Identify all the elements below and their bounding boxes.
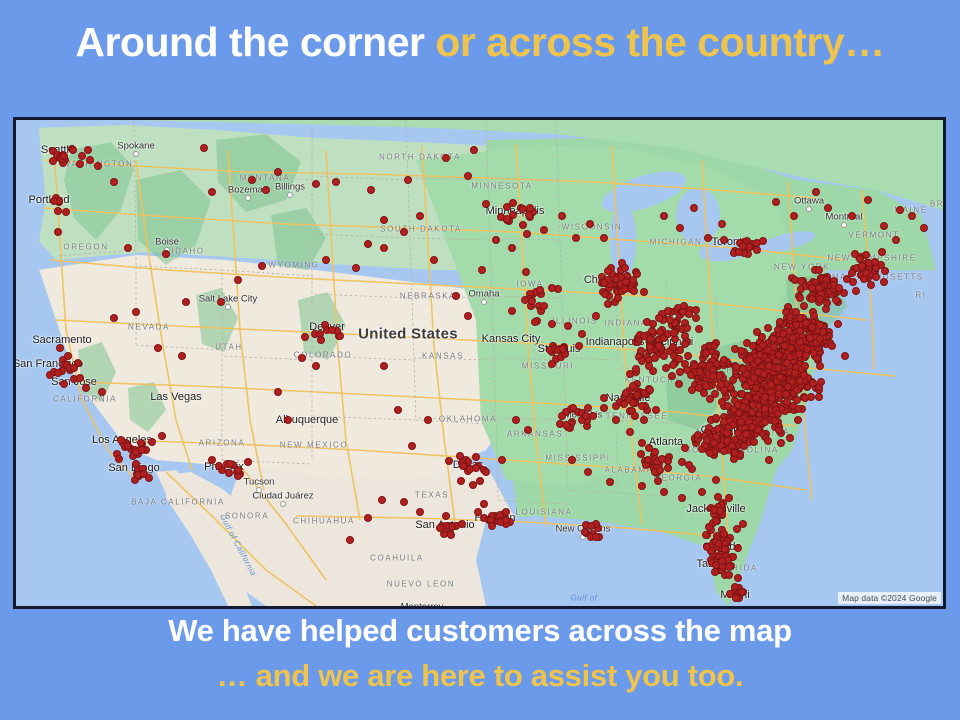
- customer-pin[interactable]: [734, 544, 742, 552]
- customer-pin[interactable]: [784, 383, 792, 391]
- customer-pin[interactable]: [800, 302, 808, 310]
- customer-pin[interactable]: [54, 207, 62, 215]
- customer-pin[interactable]: [815, 266, 823, 274]
- customer-pin[interactable]: [154, 344, 162, 352]
- customer-pin[interactable]: [789, 402, 797, 410]
- customer-pin[interactable]: [867, 281, 875, 289]
- customer-pin[interactable]: [739, 242, 747, 250]
- customer-pin[interactable]: [685, 461, 693, 469]
- customer-pin[interactable]: [880, 278, 888, 286]
- customer-pin[interactable]: [704, 234, 712, 242]
- customer-pin[interactable]: [881, 267, 889, 275]
- customer-pin[interactable]: [645, 362, 653, 370]
- customer-pin[interactable]: [472, 464, 480, 472]
- customer-pin[interactable]: [470, 146, 478, 154]
- customer-pin[interactable]: [871, 258, 879, 266]
- customer-pin[interactable]: [84, 146, 92, 154]
- customer-pin[interactable]: [346, 536, 354, 544]
- customer-pin[interactable]: [816, 362, 824, 370]
- customer-pin[interactable]: [728, 442, 736, 450]
- customer-pin[interactable]: [352, 264, 360, 272]
- customer-pin[interactable]: [702, 531, 710, 539]
- customer-pin[interactable]: [670, 329, 678, 337]
- customer-pin[interactable]: [718, 220, 726, 228]
- customer-pin[interactable]: [459, 462, 467, 470]
- customer-pin[interactable]: [115, 455, 123, 463]
- customer-pin[interactable]: [864, 196, 872, 204]
- customer-pin[interactable]: [776, 318, 784, 326]
- customer-pin[interactable]: [364, 240, 372, 248]
- customer-pin[interactable]: [710, 342, 718, 350]
- customer-pin[interactable]: [519, 221, 527, 229]
- customer-pin[interactable]: [508, 244, 516, 252]
- customer-pin[interactable]: [702, 349, 710, 357]
- customer-pin[interactable]: [582, 412, 590, 420]
- customer-pin[interactable]: [664, 307, 672, 315]
- customer-pin[interactable]: [380, 244, 388, 252]
- customer-pin[interactable]: [234, 466, 242, 474]
- customer-pin[interactable]: [828, 342, 836, 350]
- customer-pin[interactable]: [718, 557, 726, 565]
- customer-pin[interactable]: [274, 388, 282, 396]
- customer-pin[interactable]: [660, 488, 668, 496]
- customer-pin[interactable]: [548, 284, 556, 292]
- customer-pin[interactable]: [731, 449, 739, 457]
- customer-pin[interactable]: [692, 314, 700, 322]
- customer-pin[interactable]: [720, 236, 728, 244]
- customer-pin[interactable]: [668, 372, 676, 380]
- customer-pin[interactable]: [761, 405, 769, 413]
- customer-pin[interactable]: [793, 386, 801, 394]
- customer-pin[interactable]: [604, 300, 612, 308]
- customer-pin[interactable]: [631, 412, 639, 420]
- customer-pin[interactable]: [480, 500, 488, 508]
- customer-pin[interactable]: [620, 400, 628, 408]
- customer-pin[interactable]: [878, 248, 886, 256]
- customer-pin[interactable]: [132, 460, 140, 468]
- customer-pin[interactable]: [380, 362, 388, 370]
- customer-pin[interactable]: [69, 146, 77, 154]
- customer-pin[interactable]: [731, 345, 739, 353]
- customer-pin[interactable]: [723, 429, 731, 437]
- customer-pin[interactable]: [761, 393, 769, 401]
- customer-pin[interactable]: [322, 256, 330, 264]
- customer-pin[interactable]: [660, 212, 668, 220]
- customer-pin[interactable]: [452, 292, 460, 300]
- customer-pin[interactable]: [786, 313, 794, 321]
- customer-pin[interactable]: [488, 522, 496, 530]
- customer-pin[interactable]: [298, 354, 306, 362]
- customer-pin[interactable]: [600, 394, 608, 402]
- customer-pin[interactable]: [761, 418, 769, 426]
- customer-pin[interactable]: [796, 377, 804, 385]
- customer-pin[interactable]: [920, 224, 928, 232]
- customer-pin[interactable]: [683, 366, 691, 374]
- customer-pin[interactable]: [703, 436, 711, 444]
- customer-pin[interactable]: [637, 450, 645, 458]
- customer-pin[interactable]: [200, 144, 208, 152]
- customer-pin[interactable]: [775, 426, 783, 434]
- customer-pin[interactable]: [754, 357, 762, 365]
- customer-pin[interactable]: [316, 330, 324, 338]
- customer-pin[interactable]: [522, 268, 530, 276]
- customer-pin[interactable]: [786, 434, 794, 442]
- customer-pin[interactable]: [776, 373, 784, 381]
- customer-pin[interactable]: [76, 374, 84, 382]
- customer-pin[interactable]: [70, 364, 78, 372]
- customer-pin[interactable]: [770, 343, 778, 351]
- customer-pin[interactable]: [559, 345, 567, 353]
- customer-pin[interactable]: [531, 318, 539, 326]
- customer-pin[interactable]: [562, 421, 570, 429]
- customer-pin[interactable]: [208, 188, 216, 196]
- customer-pin[interactable]: [669, 343, 677, 351]
- customer-pin[interactable]: [508, 307, 516, 315]
- customer-pin[interactable]: [482, 468, 490, 476]
- customer-pin[interactable]: [706, 449, 714, 457]
- customer-pin[interactable]: [749, 401, 757, 409]
- customer-pin[interactable]: [578, 330, 586, 338]
- customer-pin[interactable]: [626, 428, 634, 436]
- customer-pin[interactable]: [274, 168, 282, 176]
- customer-pin[interactable]: [575, 342, 583, 350]
- customer-pin[interactable]: [758, 333, 766, 341]
- customer-pin[interactable]: [817, 378, 825, 386]
- customer-pin[interactable]: [734, 401, 742, 409]
- customer-pin[interactable]: [548, 360, 556, 368]
- customer-pin[interactable]: [408, 442, 416, 450]
- customer-pin[interactable]: [806, 334, 814, 342]
- map-frame[interactable]: Gulf of CaliforniaGulf of WASHINGTONOREG…: [13, 117, 946, 609]
- customer-pin[interactable]: [404, 176, 412, 184]
- customer-pin[interactable]: [244, 458, 252, 466]
- customer-pin[interactable]: [676, 224, 684, 232]
- customer-pin[interactable]: [765, 456, 773, 464]
- customer-pin[interactable]: [658, 455, 666, 463]
- customer-pin[interactable]: [629, 276, 637, 284]
- customer-pin[interactable]: [482, 200, 490, 208]
- customer-pin[interactable]: [781, 342, 789, 350]
- customer-pin[interactable]: [848, 212, 856, 220]
- customer-pin[interactable]: [558, 412, 566, 420]
- customer-pin[interactable]: [312, 362, 320, 370]
- customer-pin[interactable]: [700, 389, 708, 397]
- customer-pin[interactable]: [110, 178, 118, 186]
- customer-pin[interactable]: [630, 287, 638, 295]
- customer-pin[interactable]: [612, 275, 620, 283]
- customer-pin[interactable]: [750, 438, 758, 446]
- customer-pin[interactable]: [476, 477, 484, 485]
- customer-pin[interactable]: [832, 296, 840, 304]
- customer-pin[interactable]: [750, 374, 758, 382]
- customer-pin[interactable]: [733, 525, 741, 533]
- customer-pin[interactable]: [584, 468, 592, 476]
- customer-pin[interactable]: [790, 212, 798, 220]
- customer-pin[interactable]: [367, 186, 375, 194]
- customer-pin[interactable]: [445, 457, 453, 465]
- customer-pin[interactable]: [646, 386, 654, 394]
- customer-pin[interactable]: [284, 416, 292, 424]
- customer-pin[interactable]: [796, 294, 804, 302]
- customer-pin[interactable]: [694, 431, 702, 439]
- customer-pin[interactable]: [824, 204, 832, 212]
- customer-pin[interactable]: [731, 583, 739, 591]
- customer-pin[interactable]: [748, 423, 756, 431]
- customer-pin[interactable]: [652, 406, 660, 414]
- customer-pin[interactable]: [225, 469, 233, 477]
- customer-pin[interactable]: [729, 376, 737, 384]
- customer-pin[interactable]: [720, 447, 728, 455]
- customer-pin[interactable]: [683, 324, 691, 332]
- customer-pin[interactable]: [725, 494, 733, 502]
- customer-pin[interactable]: [675, 380, 683, 388]
- customer-pin[interactable]: [809, 379, 817, 387]
- customer-pin[interactable]: [86, 156, 94, 164]
- customer-pin[interactable]: [655, 342, 663, 350]
- customer-pin[interactable]: [416, 212, 424, 220]
- customer-pin[interactable]: [456, 452, 464, 460]
- customer-pin[interactable]: [651, 354, 659, 362]
- customer-pin[interactable]: [604, 267, 612, 275]
- customer-pin[interactable]: [82, 384, 90, 392]
- customer-pin[interactable]: [797, 277, 805, 285]
- customer-pin[interactable]: [94, 162, 102, 170]
- customer-pin[interactable]: [54, 228, 62, 236]
- customer-pin[interactable]: [815, 393, 823, 401]
- customer-pin[interactable]: [764, 324, 772, 332]
- customer-pin[interactable]: [548, 320, 556, 328]
- customer-pin[interactable]: [629, 399, 637, 407]
- customer-pin[interactable]: [621, 264, 629, 272]
- customer-pin[interactable]: [710, 506, 718, 514]
- customer-pin[interactable]: [62, 208, 70, 216]
- customer-pin[interactable]: [442, 154, 450, 162]
- customer-pin[interactable]: [162, 250, 170, 258]
- customer-pin[interactable]: [600, 404, 608, 412]
- customer-pin[interactable]: [601, 290, 609, 298]
- map-canvas[interactable]: Gulf of CaliforniaGulf of WASHINGTONOREG…: [16, 120, 943, 606]
- customer-pin[interactable]: [749, 342, 757, 350]
- customer-pin[interactable]: [655, 314, 663, 322]
- customer-pin[interactable]: [678, 494, 686, 502]
- customer-pin[interactable]: [523, 230, 531, 238]
- customer-pin[interactable]: [394, 406, 402, 414]
- customer-pin[interactable]: [526, 204, 534, 212]
- customer-pin[interactable]: [524, 426, 532, 434]
- customer-pin[interactable]: [834, 320, 842, 328]
- customer-pin[interactable]: [725, 571, 733, 579]
- customer-pin[interactable]: [695, 325, 703, 333]
- customer-pin[interactable]: [654, 477, 662, 485]
- customer-pin[interactable]: [675, 355, 683, 363]
- customer-pin[interactable]: [714, 493, 722, 501]
- customer-pin[interactable]: [774, 364, 782, 372]
- customer-pin[interactable]: [696, 368, 704, 376]
- customer-pin[interactable]: [592, 312, 600, 320]
- customer-pin[interactable]: [768, 394, 776, 402]
- customer-pin[interactable]: [50, 197, 58, 205]
- customer-pin[interactable]: [764, 437, 772, 445]
- customer-pin[interactable]: [690, 204, 698, 212]
- customer-pin[interactable]: [49, 157, 57, 165]
- customer-pin[interactable]: [801, 394, 809, 402]
- customer-pin[interactable]: [436, 524, 444, 532]
- customer-pin[interactable]: [872, 273, 880, 281]
- customer-pin[interactable]: [614, 294, 622, 302]
- customer-pin[interactable]: [474, 508, 482, 516]
- customer-pin[interactable]: [124, 244, 132, 252]
- customer-pin[interactable]: [148, 438, 156, 446]
- customer-pin[interactable]: [732, 594, 740, 602]
- customer-pin[interactable]: [521, 296, 529, 304]
- customer-pin[interactable]: [138, 446, 146, 454]
- customer-pin[interactable]: [622, 278, 630, 286]
- customer-pin[interactable]: [215, 462, 223, 470]
- customer-pin[interactable]: [64, 352, 72, 360]
- customer-pin[interactable]: [380, 216, 388, 224]
- customer-pin[interactable]: [740, 442, 748, 450]
- customer-pin[interactable]: [208, 456, 216, 464]
- customer-pin[interactable]: [503, 215, 511, 223]
- customer-pin[interactable]: [442, 512, 450, 520]
- customer-pin[interactable]: [512, 416, 520, 424]
- customer-pin[interactable]: [640, 288, 648, 296]
- customer-pin[interactable]: [178, 352, 186, 360]
- customer-pin[interactable]: [684, 352, 692, 360]
- customer-pin[interactable]: [464, 312, 472, 320]
- customer-pin[interactable]: [721, 545, 729, 553]
- customer-pin[interactable]: [646, 343, 654, 351]
- customer-pin[interactable]: [332, 178, 340, 186]
- customer-pin[interactable]: [430, 256, 438, 264]
- customer-pin[interactable]: [568, 456, 576, 464]
- customer-pin[interactable]: [783, 359, 791, 367]
- customer-pin[interactable]: [810, 349, 818, 357]
- customer-pin[interactable]: [328, 326, 336, 334]
- customer-pin[interactable]: [217, 298, 225, 306]
- customer-pin[interactable]: [759, 237, 767, 245]
- customer-pin[interactable]: [841, 352, 849, 360]
- customer-pin[interactable]: [424, 416, 432, 424]
- customer-pin[interactable]: [457, 477, 465, 485]
- customer-pin[interactable]: [767, 381, 775, 389]
- customer-pin[interactable]: [301, 333, 309, 341]
- customer-pin[interactable]: [600, 234, 608, 242]
- customer-pin[interactable]: [772, 198, 780, 206]
- customer-pin[interactable]: [858, 262, 866, 270]
- customer-pin[interactable]: [592, 533, 600, 541]
- customer-pin[interactable]: [669, 361, 677, 369]
- customer-pin[interactable]: [752, 384, 760, 392]
- customer-pin[interactable]: [681, 340, 689, 348]
- customer-pin[interactable]: [633, 391, 641, 399]
- customer-pin[interactable]: [908, 212, 916, 220]
- customer-pin[interactable]: [638, 482, 646, 490]
- customer-pin[interactable]: [892, 236, 900, 244]
- customer-pin[interactable]: [54, 369, 62, 377]
- customer-pin[interactable]: [502, 516, 510, 524]
- customer-pin[interactable]: [815, 284, 823, 292]
- customer-pin[interactable]: [536, 286, 544, 294]
- customer-pin[interactable]: [711, 390, 719, 398]
- customer-pin[interactable]: [703, 543, 711, 551]
- customer-pin[interactable]: [478, 266, 486, 274]
- customer-pin[interactable]: [739, 365, 747, 373]
- customer-pin[interactable]: [816, 295, 824, 303]
- customer-pin[interactable]: [56, 344, 64, 352]
- customer-pin[interactable]: [569, 404, 577, 412]
- customer-pin[interactable]: [458, 520, 466, 528]
- customer-pin[interactable]: [802, 319, 810, 327]
- customer-pin[interactable]: [158, 432, 166, 440]
- customer-pin[interactable]: [132, 308, 140, 316]
- customer-pin[interactable]: [378, 496, 386, 504]
- customer-pin[interactable]: [808, 295, 816, 303]
- customer-pin[interactable]: [852, 287, 860, 295]
- customer-pin[interactable]: [364, 514, 372, 522]
- customer-pin[interactable]: [416, 508, 424, 516]
- customer-pin[interactable]: [896, 206, 904, 214]
- customer-pin[interactable]: [801, 362, 809, 370]
- customer-pin[interactable]: [640, 332, 648, 340]
- customer-pin[interactable]: [464, 172, 472, 180]
- customer-pin[interactable]: [666, 316, 674, 324]
- customer-pin[interactable]: [712, 476, 720, 484]
- customer-pin[interactable]: [835, 284, 843, 292]
- customer-pin[interactable]: [447, 531, 455, 539]
- customer-pin[interactable]: [640, 416, 648, 424]
- customer-pin[interactable]: [777, 439, 785, 447]
- customer-pin[interactable]: [848, 269, 856, 277]
- customer-pin[interactable]: [248, 176, 256, 184]
- customer-pin[interactable]: [262, 186, 270, 194]
- customer-pin[interactable]: [572, 234, 580, 242]
- customer-pin[interactable]: [678, 458, 686, 466]
- customer-pin[interactable]: [632, 365, 640, 373]
- customer-pin[interactable]: [76, 160, 84, 168]
- customer-pin[interactable]: [60, 152, 68, 160]
- customer-pin[interactable]: [712, 414, 720, 422]
- customer-pin[interactable]: [258, 262, 266, 270]
- customer-pin[interactable]: [312, 180, 320, 188]
- customer-pin[interactable]: [737, 418, 745, 426]
- customer-pin[interactable]: [880, 222, 888, 230]
- customer-pin[interactable]: [681, 444, 689, 452]
- customer-pin[interactable]: [584, 404, 592, 412]
- customer-pin[interactable]: [732, 363, 740, 371]
- customer-pin[interactable]: [794, 416, 802, 424]
- customer-pin[interactable]: [638, 357, 646, 365]
- customer-pin[interactable]: [472, 453, 480, 461]
- customer-pin[interactable]: [509, 199, 517, 207]
- customer-pin[interactable]: [698, 488, 706, 496]
- customer-pin[interactable]: [234, 276, 242, 284]
- customer-pin[interactable]: [586, 220, 594, 228]
- customer-pin[interactable]: [606, 478, 614, 486]
- customer-pin[interactable]: [812, 188, 820, 196]
- customer-pin[interactable]: [638, 439, 646, 447]
- customer-pin[interactable]: [587, 522, 595, 530]
- customer-pin[interactable]: [540, 302, 548, 310]
- customer-pin[interactable]: [612, 416, 620, 424]
- customer-pin[interactable]: [734, 574, 742, 582]
- customer-pin[interactable]: [226, 460, 234, 468]
- customer-pin[interactable]: [803, 345, 811, 353]
- customer-pin[interactable]: [742, 430, 750, 438]
- customer-pin[interactable]: [492, 236, 500, 244]
- customer-pin[interactable]: [816, 335, 824, 343]
- customer-pin[interactable]: [400, 228, 408, 236]
